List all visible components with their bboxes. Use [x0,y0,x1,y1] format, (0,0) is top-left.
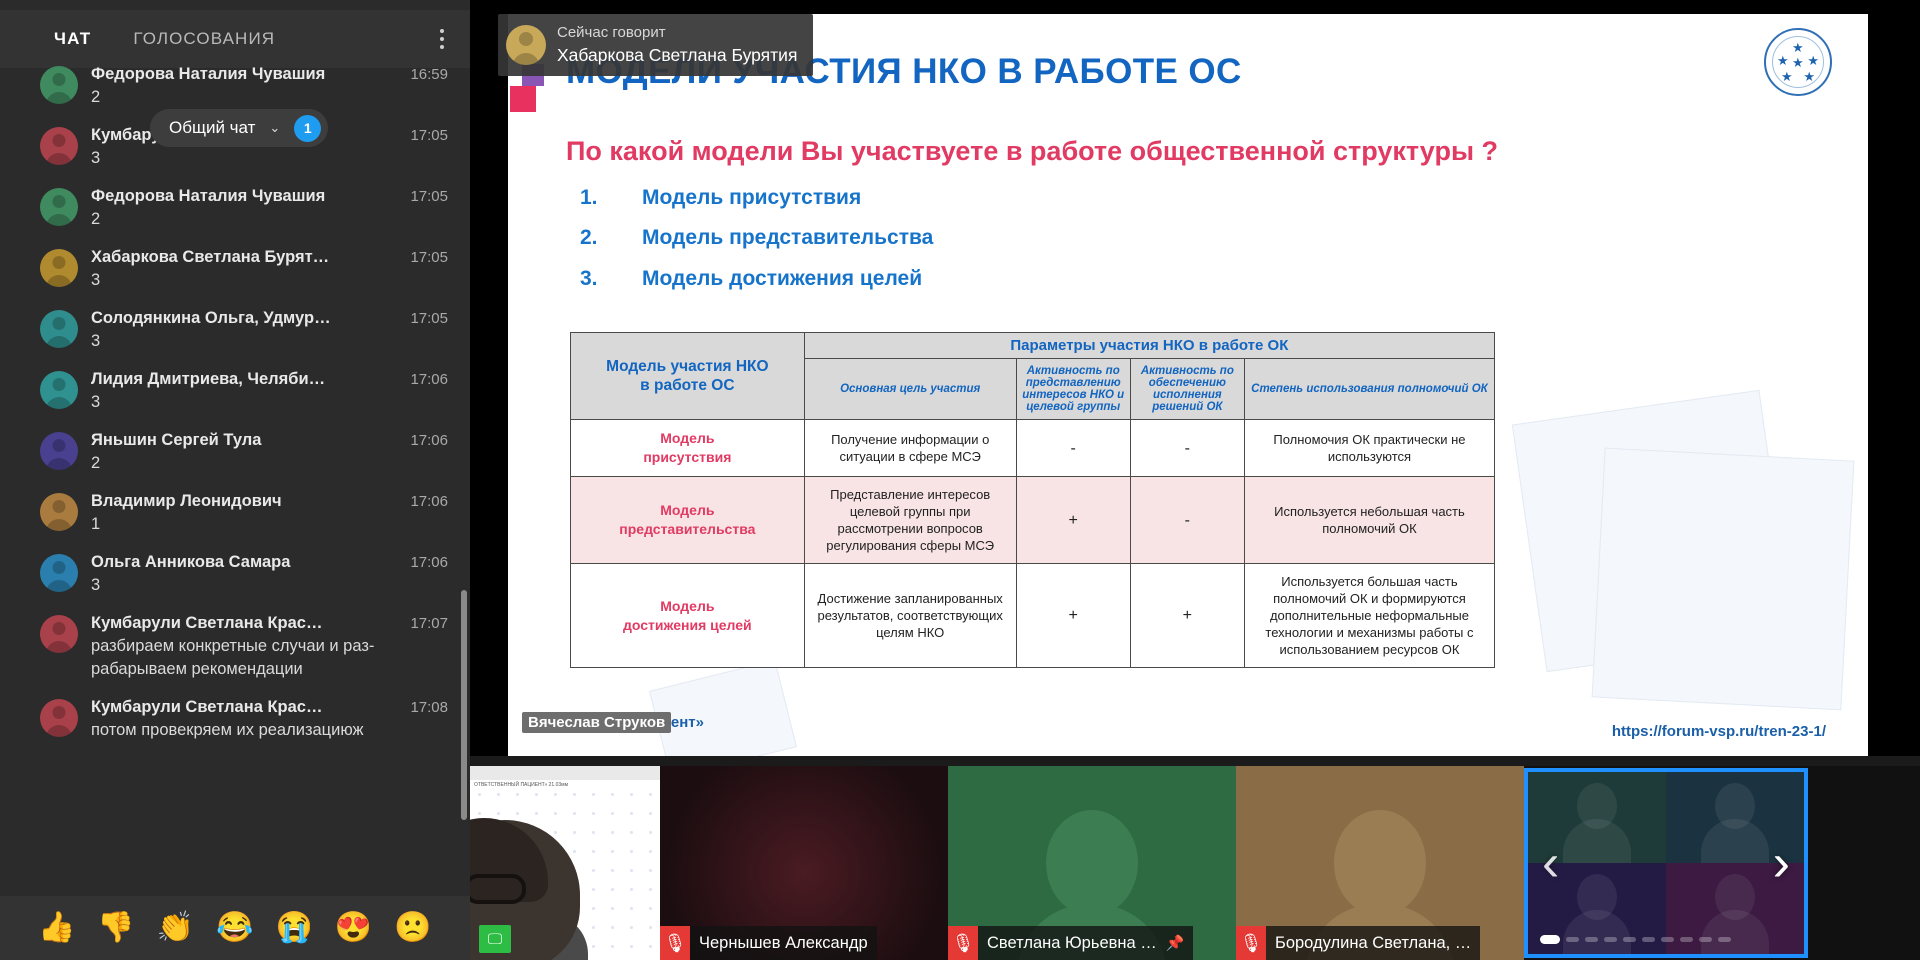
avatar [40,493,78,531]
chat-message-time: 16:59 [410,66,448,83]
chat-message-text: 3 [91,330,381,353]
chat-message-time: 17:06 [410,371,448,388]
avatar [40,432,78,470]
slide-footer: тветственный пациент» Вячеслав Струков h… [508,714,1868,740]
chat-message-author: Хабаркова Светлана Бурят… [91,247,346,268]
chat-message[interactable]: Федорова Наталия Чувашия216:59 [0,58,470,115]
chat-message-time: 17:05 [410,310,448,327]
bullet-text: Модель присутствия [642,186,861,210]
bullet-number: 3. [580,267,598,291]
chat-message-author: Владимир Леонидович [91,491,346,512]
chat-message-author: Кумбарули Светлана Крас… [91,697,346,718]
table-header-cell: Модель участия НКОв работе ОС [571,333,805,420]
chat-message-text: 2 [91,208,381,231]
page-dot[interactable] [1718,937,1731,942]
avatar [40,615,78,653]
general-chat-label: Общий чат [169,118,255,138]
mic-off-icon: 🎙 [948,926,978,960]
page-indicator[interactable] [1540,935,1731,944]
chat-message[interactable]: Кумбарули Светлана Крас…потом провекряем… [0,691,470,748]
shared-screen-slide[interactable]: МОДЕЛИ УЧАСТИЯ НКО В РАБОТЕ ОС По какой … [508,14,1868,756]
chat-message-author: Федорова Наталия Чувашия [91,64,346,85]
page-dot[interactable] [1585,937,1598,942]
next-page-arrow-icon[interactable]: › [1773,837,1790,889]
reaction-bar: 👍👎👏😂😭😍🙁 [0,896,470,960]
page-dot[interactable] [1680,937,1693,942]
page-dot[interactable] [1661,937,1674,942]
cell-activity-interests: - [1016,420,1130,477]
chat-message[interactable]: Хабаркова Светлана Бурят…317:05 [0,241,470,298]
self-doc-text: ОТВЕТСТВЕННЫЙ ПАЦИЕНТ» 21.03мм [474,782,568,788]
table-header-group: Параметры участия НКО в работе ОК [804,333,1494,359]
bullet-text: Модель представительства [642,226,933,250]
prev-page-arrow-icon[interactable]: ‹ [1542,837,1559,889]
chat-message[interactable]: Кумбарули Светлана Крас…разбираем конкре… [0,607,470,687]
cell-model: Модельприсутствия [571,420,805,477]
cell-goal: Получение информации о ситуации в сфере … [804,420,1016,477]
chat-message-text: 1 [91,513,381,536]
cell-activity-decisions: + [1130,564,1244,668]
page-dot[interactable] [1623,937,1636,942]
chat-sidebar: ЧАТ ГОЛОСОВАНИЯ Федорова Наталия Чувашия… [0,0,470,960]
kebab-dot [440,29,444,33]
table-row: МодельпредставительстваПредставление инт… [571,477,1495,564]
chat-message[interactable]: Солодянкина Ольга, Удмур…317:05 [0,302,470,359]
bullet-text: Модель достижения целей [642,267,922,291]
table-header-cell: Степень использования полномочий ОК [1244,359,1494,420]
table-header-cell: Активность по обеспечению исполнения реш… [1130,359,1244,420]
reaction-😂[interactable]: 😂 [216,913,253,943]
chat-message-text: разбираем конкретные случаи и раз-рабары… [91,635,381,681]
tile-label: 🎙 Светлана Юрьевна … 📌 [948,926,1193,960]
cell-activity-interests: + [1016,564,1130,668]
speaker-name: Хабаркова Светлана Бурятия [557,43,797,67]
chat-message-text: 3 [91,147,381,170]
bullet-number: 2. [580,226,598,250]
chat-scrollbar[interactable] [461,590,467,820]
cell-model: Модельдостижения целей [571,564,805,668]
participant-name: Светлана Юрьевна … [978,934,1166,953]
page-dot[interactable] [1642,937,1655,942]
avatar [40,699,78,737]
cell-activity-decisions: - [1130,477,1244,564]
table-header-cell: Основная цель участия [804,359,1016,420]
avatar [40,188,78,226]
chat-message-time: 17:07 [410,615,448,632]
chat-message-time: 17:06 [410,432,448,449]
participants-video-strip: ОТВЕТСТВЕННЫЙ ПАЦИЕНТ» 21.03мм 🖵 🎙 Черны… [470,766,1920,960]
tile-label: 🎙 Бородулина Светлана, … [1236,926,1480,960]
cell-activity-interests: + [1016,477,1130,564]
chat-message-author: Ольга Анникова Самара [91,552,346,573]
avatar [40,66,78,104]
models-comparison-table: Модель участия НКОв работе ОСПараметры у… [570,332,1495,668]
video-tile-self[interactable]: ОТВЕТСТВЕННЫЙ ПАЦИЕНТ» 21.03мм 🖵 [470,766,660,960]
table-row: МодельприсутствияПолучение информации о … [571,420,1495,477]
reaction-😭[interactable]: 😭 [275,913,312,943]
avatar [40,310,78,348]
cell-authority-use: Полномочия ОК практически не используютс… [1244,420,1494,477]
decorative-sheet [1592,448,1855,711]
cell-model: Модельпредставительства [571,477,805,564]
active-speaker-banner: Сейчас говорит Хабаркова Светлана Буряти… [498,14,813,76]
video-tile-pager[interactable]: ‹ › [1524,768,1808,958]
chat-message-list[interactable]: Федорова Наталия Чувашия216:59Кумбарули … [0,58,470,886]
glasses-icon [470,874,526,904]
avatar [40,249,78,287]
reaction-😍[interactable]: 😍 [335,913,372,943]
mic-off-icon: 🎙 [1236,926,1266,960]
reaction-🙁[interactable]: 🙁 [394,913,431,943]
chat-message-author: Солодянкина Ольга, Удмур… [91,308,346,329]
chat-message-time: 17:05 [410,249,448,266]
chat-message-text: 2 [91,452,381,475]
reaction-👍[interactable]: 👍 [38,913,75,943]
decorative-sheet [649,660,797,756]
chat-message[interactable]: Ольга Анникова Самара317:06 [0,546,470,603]
chat-message-time: 17:08 [410,699,448,716]
strip-divider [470,756,1920,766]
kebab-dot [440,37,444,41]
participant-name: Чернышев Александр [690,934,877,953]
video-tile-participant[interactable]: 🎙 Чернышев Александр [660,766,948,960]
chat-message-author: Кумбарули Светлана Крас… [91,613,346,634]
slide-question: По какой модели Вы участвуете в работе о… [566,136,1498,167]
chat-message-text: потом провекряем их реализациюж [91,719,381,742]
kebab-menu-icon[interactable] [440,29,444,49]
avatar [506,25,546,65]
table-row: Модельдостижения целейДостижение заплани… [571,564,1495,668]
cell-authority-use: Используется небольшая часть полномочий … [1244,477,1494,564]
presenter-name-overlay: Вячеслав Струков [522,712,671,733]
participant-name: Бородулина Светлана, … [1266,934,1480,953]
table-header-row: Модель участия НКОв работе ОСПараметры у… [571,333,1495,359]
bullet-number: 1. [580,186,598,210]
kebab-dot [440,45,444,49]
avatar [40,554,78,592]
chat-message[interactable]: Яньшин Сергей Тула217:06 [0,424,470,481]
chat-message-text: 3 [91,391,381,414]
chat-message-text: 3 [91,269,381,292]
chat-message-time: 17:05 [410,127,448,144]
speaker-label: Сейчас говорит [557,23,797,43]
chat-message-text: 2 [91,86,381,109]
reaction-👏[interactable]: 👏 [157,913,194,943]
reaction-👎[interactable]: 👎 [97,913,134,943]
avatar [40,371,78,409]
screen-share-icon: 🖵 [479,925,511,953]
cell-authority-use: Используется большая часть полномочий ОК… [1244,564,1494,668]
chat-message-author: Лидия Дмитриева, Челяби… [91,369,346,390]
chat-message-author: Яньшин Сергей Тула [91,430,346,451]
chat-message-text: 3 [91,574,381,597]
page-dot[interactable] [1566,937,1579,942]
page-dot[interactable] [1699,937,1712,942]
self-doc-header [470,766,660,780]
general-chat-selector[interactable]: Общий чат ⌄ 1 [150,109,328,147]
chat-message[interactable]: Федорова Наталия Чувашия217:05 [0,180,470,237]
chat-message-time: 17:05 [410,188,448,205]
pin-icon[interactable]: 📌 [1166,934,1194,952]
chevron-down-icon: ⌄ [269,120,280,136]
chat-message-time: 17:06 [410,493,448,510]
page-dot[interactable] [1604,937,1617,942]
slide-url[interactable]: https://forum-vsp.ru/tren-23-1/ [1612,723,1826,740]
video-tile-participant[interactable]: 🎙 Светлана Юрьевна … 📌 [948,766,1236,960]
chat-message-author: Федорова Наталия Чувашия [91,186,346,207]
decor-square-pink [510,86,536,112]
meeting-window: ЧАТ ГОЛОСОВАНИЯ Федорова Наталия Чувашия… [0,0,1920,960]
cell-goal: Представление интересов целевой группы п… [804,477,1016,564]
table-header-cell: Активность по представлению интересов НК… [1016,359,1130,420]
cell-activity-decisions: - [1130,420,1244,477]
organization-logo-icon: ★ ★ ★ ★ ★ ★ [1764,28,1832,96]
tab-chat[interactable]: ЧАТ [50,23,95,55]
unread-badge: 1 [294,115,321,142]
page-dot-active[interactable] [1540,935,1560,944]
tab-polls[interactable]: ГОЛОСОВАНИЯ [129,23,279,55]
mic-off-icon: 🎙 [660,926,690,960]
avatar [40,127,78,165]
chat-message-time: 17:06 [410,554,448,571]
video-tile-participant[interactable]: 🎙 Бородулина Светлана, … [1236,766,1524,960]
chat-message[interactable]: Лидия Дмитриева, Челяби…317:06 [0,363,470,420]
chat-message[interactable]: Владимир Леонидович117:06 [0,485,470,542]
tile-label: 🎙 Чернышев Александр [660,926,877,960]
cell-goal: Достижение запланированных результатов, … [804,564,1016,668]
